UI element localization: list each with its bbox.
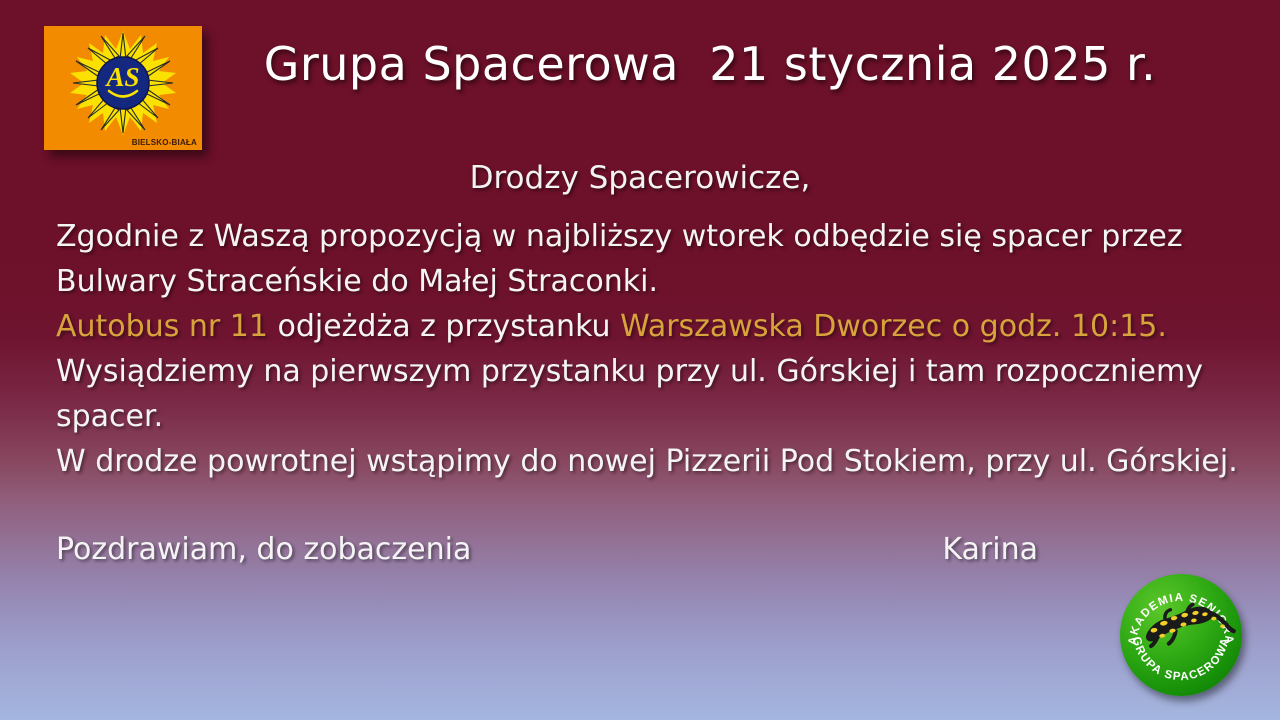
- body-line-pizzeria: W drodze powrotnej wstąpimy do nowej Piz…: [56, 439, 1246, 484]
- bus-stop-time-highlight: Warszawska Dworzec o godz. 10:15.: [620, 309, 1167, 344]
- sun-icon: AS: [69, 29, 177, 137]
- page-title: Grupa Spacerowa 21 stycznia 2025 r.: [210, 36, 1210, 92]
- signoff-name: Karina: [942, 529, 1076, 571]
- greeting-line: Drodzy Spacerowicze,: [0, 158, 1280, 198]
- signoff-farewell: Pozdrawiam, do zobaczenia: [56, 529, 471, 571]
- announcement-slide: AS BIELSKO-BIAŁA Grupa Spacerowa 21 styc…: [0, 0, 1280, 720]
- body-line-getoff: Wysiądziemy na pierwszym przystanku przy…: [56, 349, 1246, 439]
- svg-text:AS: AS: [104, 62, 139, 92]
- body-line-bus: Autobus nr 11 odjeżdża z przystanku Wars…: [56, 304, 1246, 349]
- badge-bottom-text: GRUPA SPACEROWA: [1130, 636, 1232, 684]
- akademia-seniora-logo: AS BIELSKO-BIAŁA: [44, 26, 202, 150]
- grupa-spacerowa-badge: AKADEMIA SENIORA GRUPA SPACEROWA: [1120, 574, 1242, 696]
- body-line-route: Zgodnie z Waszą propozycją w najbliższy …: [56, 214, 1246, 304]
- signoff-row: Pozdrawiam, do zobaczenia Karina: [56, 529, 1076, 571]
- announcement-body: Zgodnie z Waszą propozycją w najbliższy …: [56, 214, 1246, 484]
- logo-caption: BIELSKO-BIAŁA: [132, 138, 197, 147]
- bus-number-highlight: Autobus nr 11: [56, 309, 268, 344]
- bus-departs-text: odjeżdża z przystanku: [268, 309, 620, 344]
